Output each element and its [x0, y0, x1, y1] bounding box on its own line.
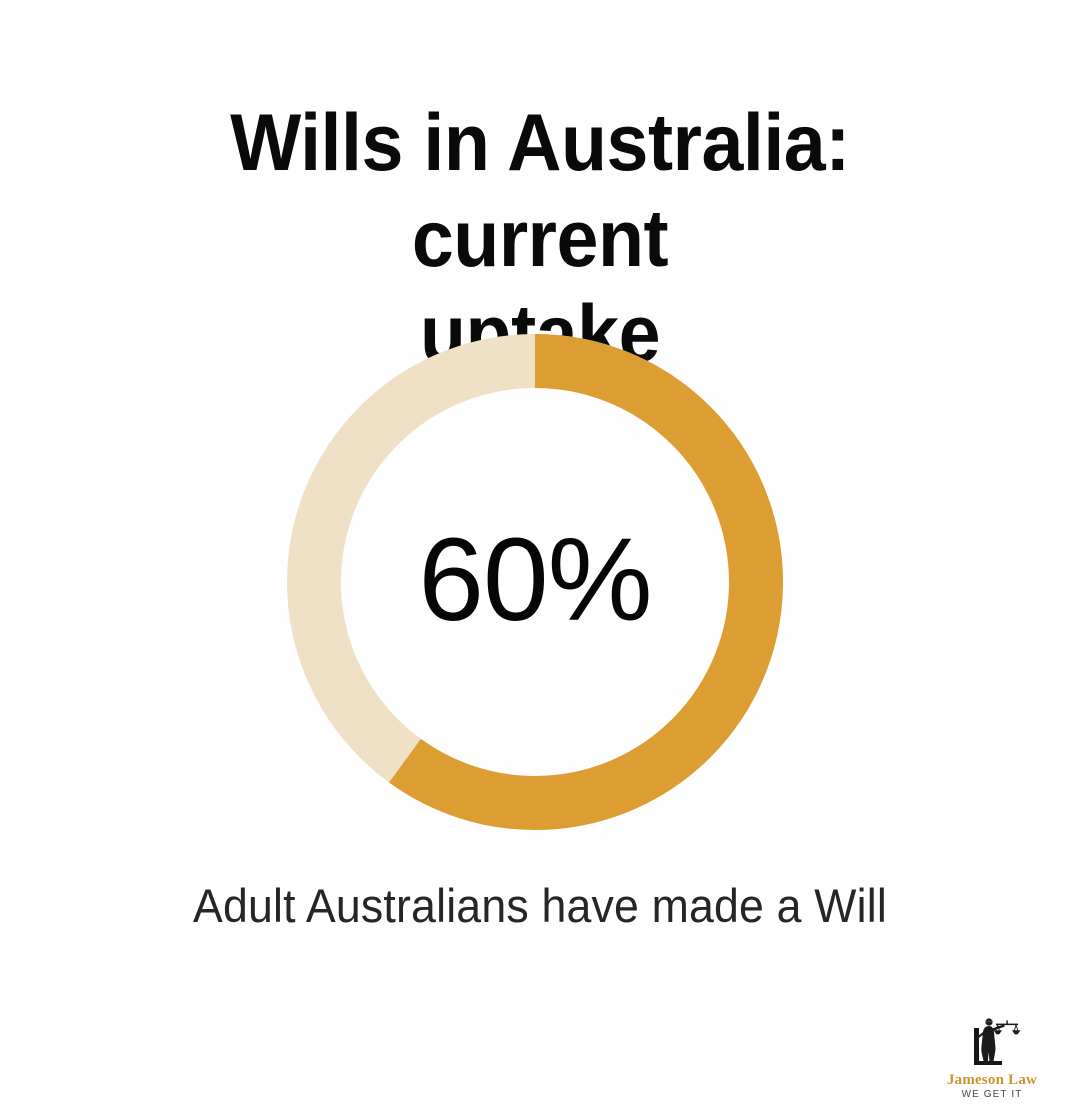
brand-name: Jameson Law: [947, 1072, 1037, 1089]
donut-chart: 60%: [287, 334, 783, 830]
brand-tagline: WE GET IT: [962, 1089, 1023, 1100]
chart-caption: Adult Australians have made a Will: [27, 878, 1053, 933]
donut-chart-svg: [287, 334, 783, 830]
infographic-canvas: Wills in Australia: current uptake 60% A…: [0, 0, 1080, 1118]
lady-justice-scales-icon: [956, 1014, 1028, 1070]
brand-logo: Jameson Law WE GET IT: [926, 1014, 1058, 1101]
page-title-line-1: Wills in Australia: current: [38, 96, 1042, 287]
